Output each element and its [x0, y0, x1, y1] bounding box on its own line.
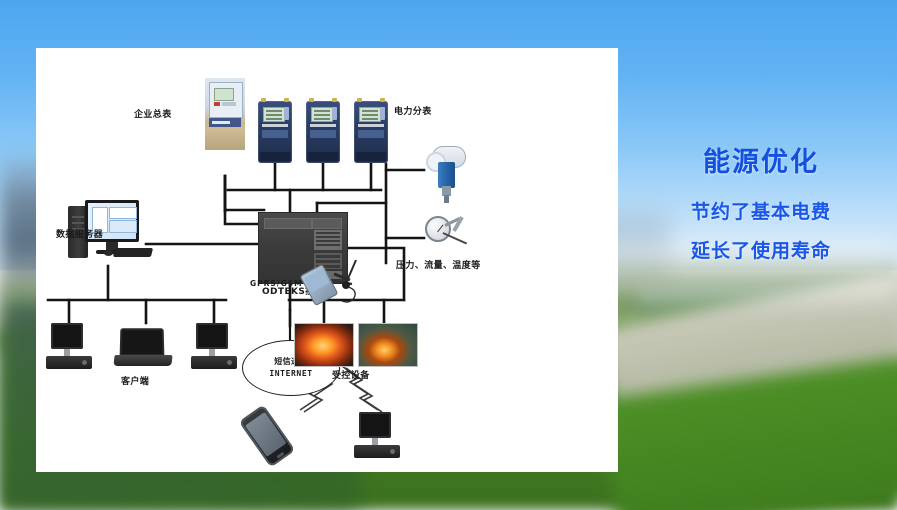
meter-lcd	[214, 88, 234, 101]
copy-line-1: 节约了基本电费	[636, 197, 886, 224]
modem-antenna-icon	[304, 254, 376, 310]
remote-tower	[354, 445, 400, 458]
client-desktop-right[interactable]	[191, 323, 237, 371]
label-enterprise-meter: 企业总表	[134, 111, 172, 121]
remote-monitor	[359, 412, 391, 438]
controller-nameplate	[264, 218, 312, 229]
controlled-equipment-photo-2	[358, 323, 418, 367]
label-sensors: 压力、流量、温度等	[396, 262, 481, 272]
diagram-panel: 企业总表 电力分表	[36, 48, 618, 472]
meter-faceplate	[209, 82, 243, 118]
client-laptop[interactable]	[114, 328, 178, 370]
meter-indicator-red	[214, 102, 220, 106]
transmitter-probe	[444, 195, 449, 203]
label-client: 客户端	[121, 378, 149, 388]
client-monitor	[51, 323, 83, 349]
smartphone-screen	[245, 412, 286, 457]
controller-terminal-grid	[314, 230, 342, 250]
submeter-buttons[interactable]	[380, 107, 385, 120]
keyboard	[113, 248, 153, 257]
marketing-copy: 能源优化 节约了基本电费 延长了使用寿命	[636, 140, 886, 263]
gprs-modem-device[interactable]	[304, 254, 376, 310]
remote-desktop-terminal[interactable]	[354, 412, 400, 460]
client-monitor	[196, 323, 228, 349]
controller-display-top	[312, 218, 342, 229]
label-gprs-gsm: GPRS/GSM	[250, 280, 303, 288]
meter-indicator-bar	[222, 102, 236, 106]
power-submeter-1[interactable]	[258, 101, 292, 163]
submeter-lcd	[311, 107, 333, 122]
laptop-screen	[120, 328, 165, 356]
copy-line-2: 延长了使用寿命	[636, 236, 886, 263]
copy-title: 能源优化	[636, 140, 886, 179]
pressure-transmitter-device[interactable]	[424, 146, 476, 206]
transmitter-body	[438, 162, 455, 188]
power-submeter-3[interactable]	[354, 101, 388, 163]
client-tower	[46, 356, 92, 369]
diagram-canvas: 企业总表 电力分表	[36, 48, 618, 472]
temperature-gauge-device[interactable]	[425, 216, 485, 262]
meter-label-band	[209, 118, 241, 127]
controlled-equipment-photo-1	[294, 323, 354, 367]
enterprise-meter-device[interactable]	[205, 78, 245, 150]
submeter-lcd	[263, 107, 285, 122]
label-power-submeter: 电力分表	[394, 108, 432, 118]
submeter-lcd	[359, 107, 381, 122]
label-controlled-equipment: 受控设备	[332, 372, 370, 382]
submeter-buttons[interactable]	[332, 107, 337, 120]
mouse	[104, 250, 113, 256]
laptop-keyboard	[113, 355, 172, 366]
client-desktop-left[interactable]	[46, 323, 92, 371]
remote-smartphone[interactable]	[252, 408, 298, 470]
label-internet: INTERNET	[269, 370, 312, 379]
wall-surface	[205, 130, 245, 150]
gauge-face	[425, 216, 451, 242]
label-data-server: 数据服务器	[56, 231, 103, 241]
power-submeter-2[interactable]	[306, 101, 340, 163]
client-tower	[191, 356, 237, 369]
smartphone-home-button[interactable]	[276, 452, 284, 459]
submeter-buttons[interactable]	[284, 107, 289, 120]
